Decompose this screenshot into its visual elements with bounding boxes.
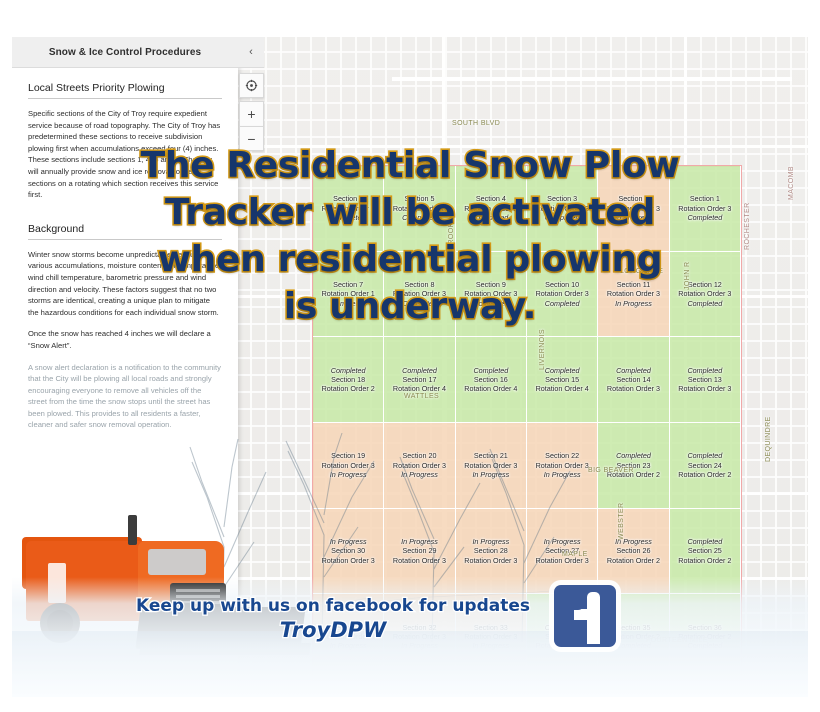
map-section-cell[interactable]: Section 20Rotation Order 3In Progress [384,423,455,509]
map-section-cell[interactable]: CompletedSection 25Rotation Order 2 [670,509,741,595]
road-label: WEBSTER [618,503,625,540]
collapse-panel-button[interactable]: ‹ [238,37,264,68]
section-rotation: Rotation Order 3 [393,556,446,565]
map-section-cell[interactable]: CompletedSection 16Rotation Order 4 [456,337,527,423]
facebook-glyph-bar [574,609,600,620]
section-name: Section 22 [545,451,579,460]
section-status: In Progress [472,537,509,546]
road-label: LIVERNOIS [539,329,546,370]
section-name: Section 19 [331,451,365,460]
locate-button[interactable] [239,73,264,98]
map-section-cell[interactable]: CompletedSection 23Rotation Order 2 [598,423,669,509]
section-status: Completed [616,451,651,460]
section-rotation: Rotation Order 3 [322,556,375,565]
facebook-banner-text: Keep up with us on facebook for updates … [118,595,548,643]
map-section-cell[interactable]: CompletedSection 13Rotation Order 3 [670,337,741,423]
section-rotation: Rotation Order 2 [678,556,731,565]
headline-line-1: The Residential Snow Plow [12,142,808,189]
road-label: FOURTEEN MILE [646,637,708,644]
section-status: Completed [687,366,722,375]
facebook-tagline: Keep up with us on facebook for updates [118,595,548,617]
section-status: Completed [402,366,437,375]
section-rotation: Rotation Order 2 [607,556,660,565]
map-section-cell[interactable]: CompletedSection 24Rotation Order 2 [670,423,741,509]
map-section-cell[interactable]: Section 21Rotation Order 3In Progress [456,423,527,509]
section-rotation: Rotation Order 2 [678,470,731,479]
compass-icon [245,79,258,92]
section-name: Section 17 [403,375,437,384]
section-status: Completed [687,537,722,546]
facebook-glyph [581,592,601,644]
section-status: Completed [545,366,580,375]
map-section-cell[interactable]: CompletedSection 14Rotation Order 3 [598,337,669,423]
facebook-icon[interactable] [554,585,616,647]
map-section-cell[interactable]: Section 22Rotation Order 3In Progress [527,423,598,509]
section-rotation: Rotation Order 3 [393,461,446,470]
section-rotation: Rotation Order 3 [464,461,517,470]
section-status: In Progress [330,470,367,479]
chevron-left-icon: ‹ [249,46,253,58]
section-rotation: Rotation Order 3 [607,384,660,393]
section-name: Section 35 [617,623,651,632]
section-name: Section 30 [331,546,365,555]
section-name: Section 28 [474,546,508,555]
section-name: Section 24 [688,461,722,470]
section-name: Section 13 [688,375,722,384]
section-status: Completed [687,451,722,460]
road-label: BIG BEAVER [588,467,634,474]
section-status: In Progress [401,537,438,546]
section-name: Section 18 [331,375,365,384]
section-status: In Progress [544,537,581,546]
facebook-glyph-notch [574,592,584,610]
heading-local-streets: Local Streets Priority Plowing [28,82,222,99]
headline-line-4: is underway. [12,283,808,330]
info-panel-header: Snow & Ice Control Procedures [12,37,238,68]
plus-icon: + [247,106,255,122]
headline-line-3: when residential plowing [12,236,808,283]
road-label: SOUTH BLVD [452,120,500,127]
section-name: Section 16 [474,375,508,384]
map-section-cell[interactable]: CompletedSection 17Rotation Order 4 [384,337,455,423]
section-name: Section 15 [545,375,579,384]
section-status: Completed [473,366,508,375]
section-status: Completed [616,366,651,375]
map-section-cell[interactable]: CompletedSection 18Rotation Order 2 [313,337,384,423]
section-name: Section 20 [403,451,437,460]
section-name: Section 26 [617,546,651,555]
section-status: In Progress [401,470,438,479]
section-name: Section 36 [688,623,722,632]
section-status: In Progress [544,470,581,479]
map-section-cell[interactable]: Section 19Rotation Order 3In Progress [313,423,384,509]
section-rotation: Rotation Order 2 [322,384,375,393]
facebook-handle: TroyDPW [118,617,548,643]
road-label: WATTLES [404,393,439,400]
section-status: Completed [331,366,366,375]
screenshot-root: Section 6Rotation Order 1CompletedSectio… [0,0,820,712]
section-status: In Progress [472,470,509,479]
section-rotation: Rotation Order 4 [464,384,517,393]
map-section-cell[interactable]: In ProgressSection 30Rotation Order 3 [313,509,384,595]
map-section-cell[interactable]: In ProgressSection 26Rotation Order 2 [598,509,669,595]
panel-title: Snow & Ice Control Procedures [49,47,201,58]
section-rotation: Rotation Order 4 [536,384,589,393]
paragraph-background-3: A snow alert declaration is a notificati… [28,362,222,432]
section-rotation: Rotation Order 3 [536,461,589,470]
section-rotation: Rotation Order 3 [464,556,517,565]
section-status: In Progress [330,537,367,546]
road-label: DEQUINDRE [765,416,772,462]
section-rotation: Rotation Order 3 [322,461,375,470]
headline-line-2: Tracker will be activated [12,189,808,236]
section-rotation: Rotation Order 3 [678,384,731,393]
zoom-in-button[interactable]: + [239,101,264,126]
paragraph-background-2: Once the snow has reached 4 inches we wi… [28,328,222,351]
section-name: Section 25 [688,546,722,555]
map-control-stack: + − [239,73,264,151]
map-highway-diagonal [392,77,792,81]
headline-announcement: The Residential Snow PlowTracker will be… [12,142,808,330]
section-name: Section 21 [474,451,508,460]
snow-plow-tracker-app: Section 6Rotation Order 1CompletedSectio… [12,37,808,697]
map-section-cell[interactable]: In ProgressSection 28Rotation Order 3 [456,509,527,595]
map-section-cell[interactable]: CompletedSection 15Rotation Order 4 [527,337,598,423]
map-section-cell[interactable]: In ProgressSection 29Rotation Order 3 [384,509,455,595]
section-name: Section 14 [617,375,651,384]
road-label: MAPLE [562,551,588,558]
section-name: Section 29 [403,546,437,555]
